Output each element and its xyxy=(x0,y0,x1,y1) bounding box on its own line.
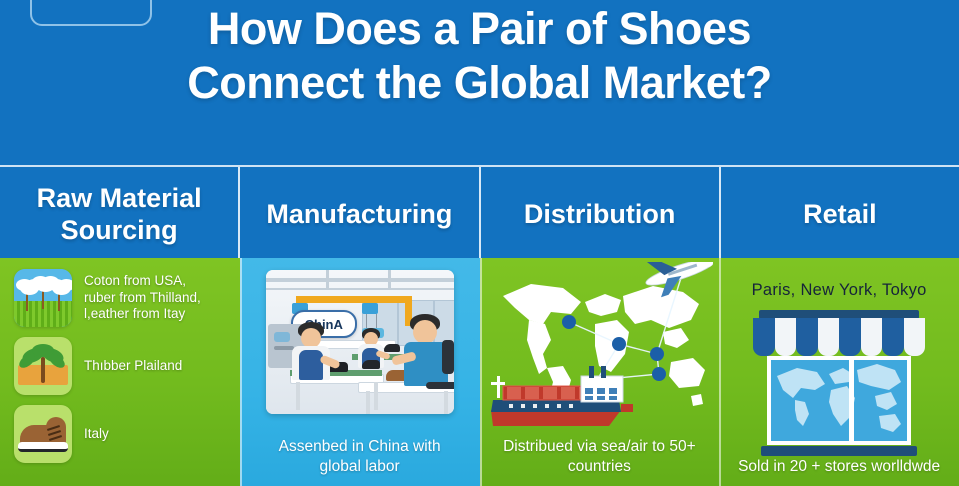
column-header-label: Distribution xyxy=(518,198,681,230)
column-header-raw-material[interactable]: Raw Material Sourcing xyxy=(0,167,240,260)
list-item-label-line1: Italy xyxy=(84,426,109,443)
list-item-label: Coton from USA, ruber from Thilland, l,e… xyxy=(84,273,201,323)
storefront-illustration xyxy=(753,310,925,465)
distribution-illustration xyxy=(480,262,720,432)
panel-manufacturing: ChinA xyxy=(240,258,480,486)
page-title: How Does a Pair of Shoes Connect the Glo… xyxy=(0,2,959,110)
distribution-caption-line2: countries xyxy=(568,458,631,475)
storefront-window xyxy=(767,356,911,445)
window-mullion xyxy=(849,356,854,445)
storefront-base-bar xyxy=(761,446,917,456)
factory-illustration: ChinA xyxy=(266,270,454,414)
panel-raw-material-sourcing: Coton from USA, ruber from Thilland, l,e… xyxy=(0,258,240,486)
column-header-manufacturing[interactable]: Manufacturing xyxy=(240,167,480,260)
column-header-distribution[interactable]: Distribution xyxy=(481,167,721,260)
title-banner: How Does a Pair of Shoes Connect the Glo… xyxy=(0,0,959,165)
infographic-root: How Does a Pair of Shoes Connect the Glo… xyxy=(0,0,959,486)
column-header-label: Raw Material Sourcing xyxy=(31,182,208,246)
distribution-caption-line1: Distribued via sea/air to 50+ xyxy=(503,438,696,455)
palm-tree-icon xyxy=(14,337,72,395)
window-world-map-svg xyxy=(771,360,907,441)
awning xyxy=(753,318,925,356)
list-item-label: Thıbber Plailand xyxy=(84,358,182,375)
column-header-label-line2: Sourcing xyxy=(61,215,178,245)
list-item[interactable]: Coton from USA, ruber from Thilland, l,e… xyxy=(0,264,240,332)
list-item-label: Italy xyxy=(84,426,109,443)
distribution-caption: Distribued via sea/air to 50+ countries xyxy=(480,437,720,477)
list-item-label-line3: l,eather from Itay xyxy=(84,306,201,323)
world-map-svg xyxy=(485,262,713,434)
content-row: Coton from USA, ruber from Thilland, l,e… xyxy=(0,258,959,486)
column-header-row: Raw Material Sourcing Manufacturing Dist… xyxy=(0,165,959,260)
page-title-line1: How Does a Pair of Shoes xyxy=(0,2,959,56)
retail-cities-label: Paris, New York, Tokyo xyxy=(719,280,959,300)
panel-distribution: Distribued via sea/air to 50+ countries xyxy=(480,258,720,486)
manufacturing-caption-line1: Assenbed in China with xyxy=(279,438,441,455)
list-item[interactable]: Thıbber Plailand xyxy=(0,332,240,400)
panel-retail: Paris, New York, Tokyo xyxy=(719,258,959,486)
retail-caption: Sold in 20 + stores worlldwde xyxy=(719,457,959,477)
list-item-label-line2: ruber from Thilland, xyxy=(84,290,201,307)
column-header-label-line1: Raw Material xyxy=(37,183,202,213)
page-title-line2: Connect the Global Market? xyxy=(0,56,959,110)
manufacturing-caption: Assenbed in China with global labor xyxy=(240,437,480,477)
factory-worker xyxy=(288,322,336,378)
column-header-label: Manufacturing xyxy=(260,198,458,230)
cotton-field-icon xyxy=(14,269,72,327)
leather-shoe-icon xyxy=(14,405,72,463)
column-header-label: Retail xyxy=(797,198,883,230)
list-item-label-line1: Coton from USA, xyxy=(84,273,201,290)
list-item[interactable]: Italy xyxy=(0,400,240,468)
raw-material-list: Coton from USA, ruber from Thilland, l,e… xyxy=(0,264,240,468)
list-item-label-line1: Thıbber Plailand xyxy=(84,358,182,375)
column-header-retail[interactable]: Retail xyxy=(721,167,959,260)
manufacturing-caption-line2: global labor xyxy=(320,458,400,475)
